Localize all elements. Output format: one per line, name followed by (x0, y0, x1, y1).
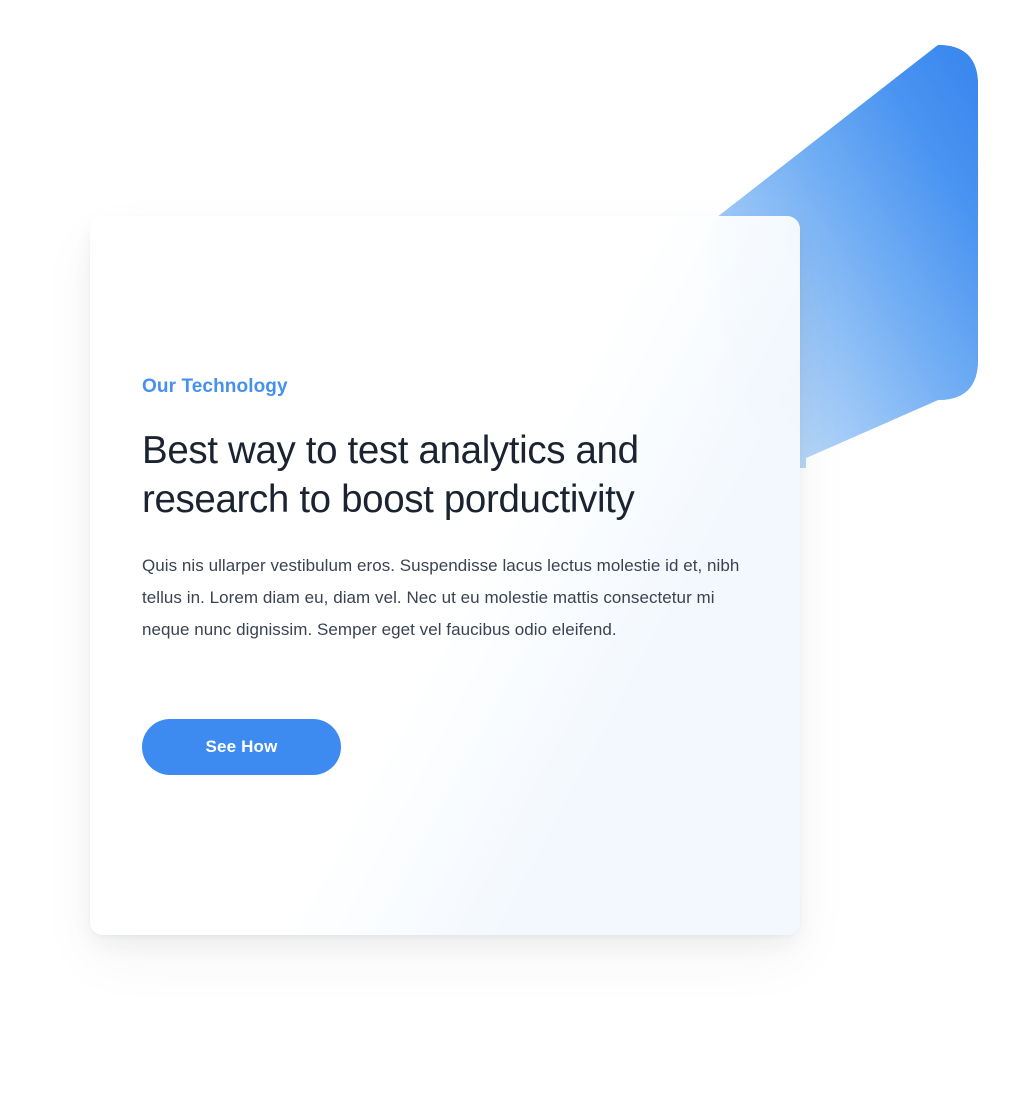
body-paragraph: Quis nis ullarper vestibulum eros. Suspe… (142, 550, 757, 646)
page-canvas: Our Technology Best way to test analytic… (0, 0, 1016, 1113)
content-card: Our Technology Best way to test analytic… (90, 216, 800, 935)
page-title: Best way to test analytics and research … (142, 426, 767, 524)
see-how-button[interactable]: See How (142, 719, 341, 775)
eyebrow-label: Our Technology (142, 376, 288, 399)
card-content: Our Technology Best way to test analytic… (142, 216, 800, 935)
